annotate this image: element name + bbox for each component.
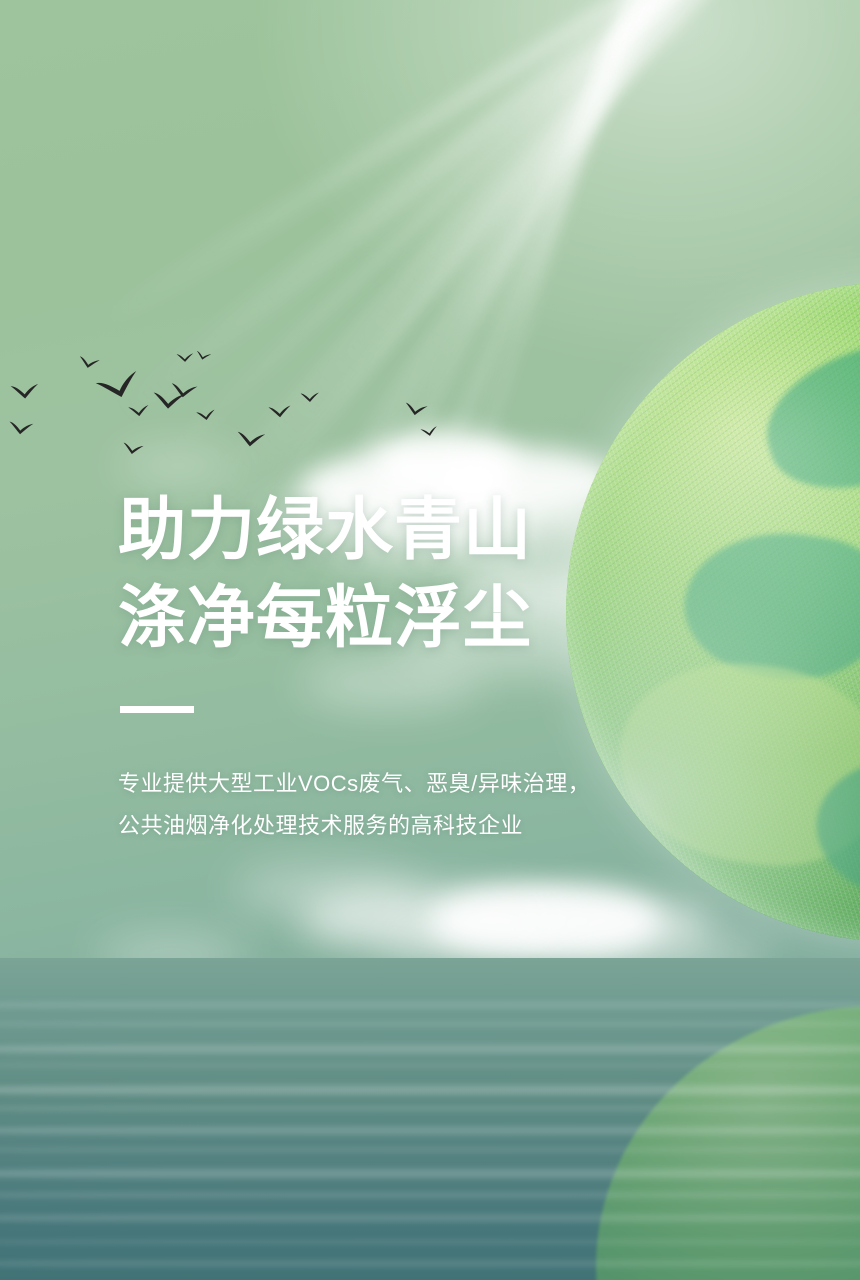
bird-icon <box>195 406 217 422</box>
bird-icon <box>235 429 266 450</box>
water-wave-highlight <box>0 1042 860 1056</box>
bird-icon <box>419 422 439 437</box>
environmental-hero-banner: 助力绿水青山 涤净每粒浮尘 专业提供大型工业VOCs废气、恶臭/异味治理， 公共… <box>0 0 860 1280</box>
bird-icon <box>403 400 429 418</box>
water-wave-highlight <box>0 1190 860 1200</box>
bird-icon <box>267 403 292 420</box>
bird-icon <box>7 419 34 437</box>
headline-line-1: 助力绿水青山 <box>118 486 678 574</box>
water-wave-highlight <box>0 1062 860 1069</box>
water-wave-highlight <box>0 1166 860 1181</box>
bird-icon <box>77 354 101 371</box>
subtitle-line-2: 公共油烟净化处理技术服务的高科技企业 <box>118 807 678 845</box>
subtitle-line-1: 专业提供大型工业VOCs废气、恶臭/异味治理， <box>118 765 678 803</box>
headline-line-2: 涤净每粒浮尘 <box>118 574 678 662</box>
water-wave-highlight <box>0 1146 860 1154</box>
bird-icon <box>176 349 195 361</box>
water-wave-highlight <box>0 1000 860 1010</box>
water-wave-highlight <box>0 1212 860 1224</box>
bird-icon <box>152 389 187 411</box>
water-wave-highlight <box>0 1124 860 1137</box>
bird-icon <box>93 366 146 407</box>
bird-icon <box>300 389 321 403</box>
headline-divider <box>120 706 194 713</box>
water-wave-highlight <box>0 1104 860 1113</box>
bird-icon <box>127 403 151 420</box>
water-wave-highlight <box>0 1020 860 1028</box>
bird-icon <box>121 441 145 458</box>
bird-icon <box>9 380 41 402</box>
water-wave-highlight <box>0 1082 860 1098</box>
bird-icon <box>195 346 213 359</box>
hero-text-block: 助力绿水青山 涤净每粒浮尘 专业提供大型工业VOCs废气、恶臭/异味治理， 公共… <box>118 486 678 845</box>
water-wave-highlight <box>0 1258 860 1269</box>
water-wave-highlight <box>0 1238 860 1246</box>
